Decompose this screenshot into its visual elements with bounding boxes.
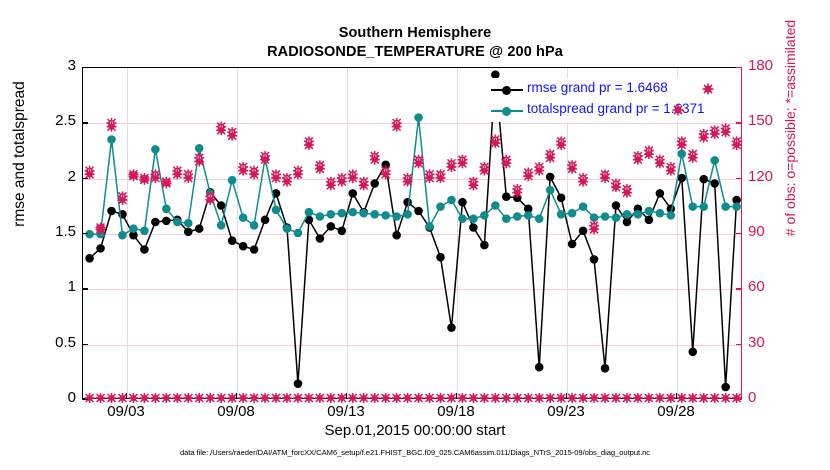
data-point: [228, 237, 236, 245]
obs-assimilated-marker: [85, 393, 95, 403]
y-tick-label-left: 0: [34, 389, 76, 406]
obs-assimilated-marker: [96, 393, 106, 403]
data-point: [228, 176, 236, 184]
obs-assimilated-marker: [523, 393, 533, 403]
data-point: [645, 216, 653, 224]
y-tick-label-left: 2.5: [34, 112, 76, 129]
data-point: [568, 240, 576, 248]
obs-assimilated-marker: [216, 393, 226, 403]
obs-assimilated-marker: [425, 393, 435, 403]
y-tick-right: [736, 67, 742, 68]
data-point: [404, 198, 412, 206]
obs-assimilated-marker: [282, 177, 292, 187]
obs-assimilated-marker: [479, 166, 489, 176]
data-point: [360, 209, 368, 217]
obs-assimilated-marker: [172, 169, 182, 179]
y-tick-right: [736, 233, 742, 234]
y-tick-left: [82, 344, 88, 345]
obs-assimilated-marker: [655, 158, 665, 168]
x-tick: [126, 393, 127, 399]
title-line-1: Southern Hemisphere: [0, 24, 830, 43]
obs-assimilated-marker: [337, 177, 347, 187]
data-point: [239, 242, 247, 250]
obs-assimilated-marker: [666, 166, 676, 176]
data-point: [470, 215, 478, 223]
figure-canvas: Southern Hemisphere RADIOSONDE_TEMPERATU…: [0, 0, 830, 470]
data-point: [645, 207, 653, 215]
data-point: [305, 208, 313, 216]
data-point: [579, 203, 587, 211]
data-point: [557, 194, 565, 202]
obs-assimilated-marker: [249, 393, 259, 403]
data-point: [97, 245, 105, 253]
data-point: [678, 174, 686, 182]
data-point: [349, 208, 357, 216]
obs-assimilated-marker: [721, 393, 731, 403]
title-line-2: RADIOSONDE_TEMPERATURE @ 200 hPa: [0, 43, 830, 62]
data-point: [163, 217, 171, 225]
data-point: [86, 255, 94, 263]
obs-assimilated-marker: [326, 180, 336, 190]
obs-assimilated-marker: [688, 153, 698, 163]
obs-assimilated-marker: [556, 140, 566, 150]
obs-assimilated-marker: [194, 157, 204, 167]
data-point: [524, 212, 532, 220]
obs-assimilated-marker: [403, 393, 413, 403]
data-point: [152, 146, 160, 154]
y-axis-right-title: # of obs: o=possible; *=assimilated: [782, 0, 798, 308]
obs-assimilated-marker: [589, 224, 599, 234]
data-point: [239, 214, 247, 222]
obs-assimilated-marker: [150, 393, 160, 403]
data-point: [250, 222, 258, 230]
y-tick-label-right: 150: [748, 112, 773, 129]
obs-assimilated-marker: [282, 393, 292, 403]
obs-assimilated-marker: [359, 393, 369, 403]
data-point: [535, 215, 543, 223]
y-tick-left: [82, 67, 88, 68]
obs-assimilated-marker: [403, 177, 413, 187]
data-point: [722, 383, 730, 391]
obs-assimilated-marker: [589, 393, 599, 403]
obs-assimilated-marker: [161, 393, 171, 403]
obs-assimilated-marker: [611, 182, 621, 192]
x-tick-label: 09/28: [636, 403, 716, 420]
data-file-footer: data file: /Users/raeder/DAI/ATM_forcXX/…: [0, 448, 830, 457]
obs-assimilated-marker: [479, 393, 489, 403]
data-point: [174, 218, 182, 226]
obs-assimilated-marker: [611, 393, 621, 403]
obs-assimilated-marker: [600, 173, 610, 183]
data-point: [437, 253, 445, 261]
series-obs: [85, 122, 742, 235]
obs-assimilated-marker: [655, 393, 665, 403]
obs-assimilated-marker: [128, 393, 138, 403]
data-point: [195, 225, 203, 233]
data-point: [415, 114, 423, 122]
data-point: [184, 228, 192, 236]
data-point: [722, 203, 730, 211]
data-point: [393, 231, 401, 239]
obs-assimilated-marker: [414, 158, 424, 168]
obs-assimilated-marker: [436, 173, 446, 183]
data-point: [557, 211, 565, 219]
data-point: [634, 211, 642, 219]
obs-assimilated-marker: [107, 393, 117, 403]
data-point: [711, 180, 719, 188]
y-tick-label-right: 120: [748, 168, 773, 185]
legend-dot-rmse: [502, 86, 511, 95]
data-point: [590, 256, 598, 264]
obs-assimilated-marker: [556, 393, 566, 403]
obs-assimilated-marker: [622, 393, 632, 403]
obs-assimilated-marker: [348, 393, 358, 403]
x-tick-label: 09/23: [526, 403, 606, 420]
obs-assimilated-marker: [128, 171, 138, 181]
obs-assimilated-marker: [117, 195, 127, 205]
obs-assimilated-marker: [501, 158, 511, 168]
obs-assimilated-marker: [370, 155, 380, 165]
obs-assimilated-marker: [721, 127, 731, 137]
data-point: [371, 180, 379, 188]
obs-assimilated-marker: [468, 393, 478, 403]
data-point: [108, 136, 116, 144]
obs-assimilated-marker: [512, 188, 522, 198]
data-point: [535, 363, 543, 371]
data-point: [316, 235, 324, 243]
obs-assimilated-marker: [293, 393, 303, 403]
data-point: [503, 193, 511, 201]
obs-assimilated-marker: [150, 173, 160, 183]
legend-label-rmse: rmse grand pr = 1.6468: [527, 80, 668, 95]
obs-assimilated-marker: [249, 169, 259, 179]
y-tick-right: [736, 344, 742, 345]
x-tick-label: 09/18: [416, 403, 496, 420]
obs-assimilated-marker: [139, 393, 149, 403]
y-tick-left: [82, 233, 88, 234]
obs-assimilated-marker: [359, 180, 369, 190]
obs-assimilated-marker: [633, 393, 643, 403]
data-point: [130, 225, 138, 233]
data-point: [294, 229, 302, 237]
obs-assimilated-marker: [205, 393, 215, 403]
data-point: [678, 150, 686, 158]
x-tick: [676, 393, 677, 399]
obs-assimilated-marker: [260, 155, 270, 165]
obs-assimilated-marker: [172, 393, 182, 403]
obs-assimilated-marker: [293, 169, 303, 179]
data-point: [261, 216, 269, 224]
data-point: [711, 157, 719, 165]
y-tick-right: [736, 288, 742, 289]
y-tick-label-left: 1.5: [34, 223, 76, 240]
obs-assimilated-marker: [446, 393, 456, 403]
series-obs: [85, 118, 742, 232]
data-point: [700, 203, 708, 211]
obs-assimilated-marker: [315, 393, 325, 403]
data-point: [546, 186, 554, 194]
obs-assimilated-marker: [534, 393, 544, 403]
x-tick: [346, 393, 347, 399]
obs-assimilated-marker: [490, 393, 500, 403]
x-tick-label: 09/03: [86, 403, 166, 420]
data-point: [108, 207, 116, 215]
y-tick-label-right: 0: [748, 389, 756, 406]
y-tick-left: [82, 288, 88, 289]
data-point: [371, 211, 379, 219]
obs-assimilated-marker: [183, 393, 193, 403]
y-tick-label-right: 60: [748, 278, 765, 295]
data-point: [656, 209, 664, 217]
obs-assimilated-marker: [370, 393, 380, 403]
obs-assimilated-marker: [260, 393, 270, 403]
data-point: [119, 231, 127, 239]
data-point: [283, 225, 291, 233]
data-point: [590, 214, 598, 222]
data-point: [481, 241, 489, 249]
obs-assimilated-marker: [326, 393, 336, 403]
obs-assimilated-marker: [271, 173, 281, 183]
obs-assimilated-marker: [688, 393, 698, 403]
legend-row-totalspread[interactable]: totalspread grand pr = 1.6371: [489, 100, 721, 121]
obs-assimilated-marker: [699, 133, 709, 143]
data-point: [152, 218, 160, 226]
obs-assimilated-marker: [227, 131, 237, 141]
obs-assimilated-marker: [710, 393, 720, 403]
chart-legend[interactable]: rmse grand pr = 1.6468 totalspread grand…: [488, 78, 722, 122]
data-point: [623, 211, 631, 219]
chart-title: Southern Hemisphere RADIOSONDE_TEMPERATU…: [0, 24, 830, 62]
data-point: [141, 246, 149, 254]
data-point: [579, 227, 587, 235]
obs-assimilated-marker: [238, 393, 248, 403]
data-point: [184, 219, 192, 227]
data-point: [382, 212, 390, 220]
data-point: [612, 202, 620, 210]
obs-assimilated-marker: [392, 393, 402, 403]
data-point: [546, 173, 554, 181]
data-point: [733, 203, 741, 211]
obs-assimilated-marker: [304, 393, 314, 403]
obs-assimilated-marker: [633, 155, 643, 165]
y-tick-label-left: 3: [34, 57, 76, 74]
data-point: [195, 145, 203, 153]
obs-assimilated-marker: [381, 169, 391, 179]
data-point: [689, 203, 697, 211]
obs-assimilated-marker: [490, 138, 500, 148]
data-point: [338, 209, 346, 217]
data-point: [437, 203, 445, 211]
obs-assimilated-marker: [216, 125, 226, 135]
obs-assimilated-marker: [677, 393, 687, 403]
y-tick-right: [736, 178, 742, 179]
obs-assimilated-marker: [545, 153, 555, 163]
obs-assimilated-marker: [578, 177, 588, 187]
obs-assimilated-marker: [710, 129, 720, 139]
data-point: [404, 211, 412, 219]
x-axis-title: Sep.01,2015 00:00:00 start: [0, 422, 830, 439]
data-point: [272, 206, 280, 214]
obs-assimilated-marker: [468, 180, 478, 190]
data-point: [481, 212, 489, 220]
y-tick-label-right: 180: [748, 57, 773, 74]
y-tick-left: [82, 178, 88, 179]
obs-assimilated-marker: [699, 393, 709, 403]
x-tick: [456, 393, 457, 399]
x-tick: [236, 393, 237, 399]
y-tick-label-right: 90: [748, 223, 765, 240]
obs-assimilated-marker: [96, 224, 106, 234]
obs-assimilated-marker: [523, 171, 533, 181]
data-point: [700, 175, 708, 183]
data-point: [568, 209, 576, 217]
data-point: [601, 365, 609, 373]
data-point: [141, 227, 149, 235]
obs-assimilated-marker: [425, 173, 435, 183]
obs-assimilated-marker: [392, 122, 402, 132]
obs-assimilated-marker: [271, 393, 281, 403]
data-point: [415, 207, 423, 215]
series-obs: [85, 393, 742, 403]
data-point: [459, 215, 467, 223]
obs-assimilated-marker: [644, 149, 654, 159]
obs-assimilated-marker: [194, 393, 204, 403]
obs-assimilated-marker: [381, 393, 391, 403]
obs-assimilated-marker: [107, 122, 117, 132]
obs-assimilated-marker: [578, 393, 588, 403]
data-point: [393, 213, 401, 221]
data-point: [612, 214, 620, 222]
y-tick-label-left: 1: [34, 278, 76, 295]
obs-assimilated-marker: [545, 393, 555, 403]
legend-dot-totalspread: [502, 107, 511, 116]
obs-assimilated-marker: [183, 173, 193, 183]
data-point: [316, 213, 324, 221]
obs-assimilated-marker: [161, 179, 171, 189]
obs-assimilated-marker: [501, 393, 511, 403]
legend-row-rmse[interactable]: rmse grand pr = 1.6468: [489, 79, 721, 100]
data-point: [327, 211, 335, 219]
obs-assimilated-marker: [414, 393, 424, 403]
x-tick: [566, 393, 567, 399]
y-tick-left: [82, 122, 88, 123]
data-point: [349, 190, 357, 198]
obs-assimilated-marker: [512, 393, 522, 403]
y-tick-label-left: 0.5: [34, 334, 76, 351]
obs-assimilated-marker: [732, 393, 742, 403]
y-tick-right: [736, 399, 742, 400]
obs-assimilated-marker: [622, 188, 632, 198]
data-point: [338, 227, 346, 235]
y-axis-left-title: rmse and totalspread: [11, 0, 29, 334]
y-tick-label-left: 2: [34, 168, 76, 185]
obs-assimilated-marker: [677, 140, 687, 150]
data-point: [294, 380, 302, 388]
data-point: [689, 348, 697, 356]
data-point: [503, 215, 511, 223]
legend-marker-obs-assimilated: [701, 82, 715, 96]
y-tick-label-right: 30: [748, 334, 765, 351]
obs-assimilated-marker: [205, 195, 215, 205]
data-point: [448, 324, 456, 332]
y-tick-right: [736, 122, 742, 123]
obs-assimilated-marker: [457, 393, 467, 403]
obs-assimilated-marker: [534, 166, 544, 176]
obs-assimilated-marker: [567, 164, 577, 174]
legend-marker-obs-possible: [671, 103, 685, 117]
data-point: [448, 196, 456, 204]
obs-assimilated-marker: [644, 393, 654, 403]
data-point: [217, 202, 225, 210]
obs-assimilated-marker: [348, 173, 358, 183]
data-point: [667, 212, 675, 220]
data-point: [163, 205, 171, 213]
data-point: [250, 246, 258, 254]
data-point: [601, 213, 609, 221]
obs-assimilated-marker: [436, 393, 446, 403]
obs-assimilated-marker: [457, 158, 467, 168]
data-point: [217, 222, 225, 230]
data-point: [327, 223, 335, 231]
y-tick-left: [82, 399, 88, 400]
data-point: [470, 224, 478, 232]
obs-assimilated-marker: [315, 164, 325, 174]
obs-assimilated-marker: [139, 175, 149, 185]
data-point: [656, 190, 664, 198]
obs-assimilated-marker: [304, 140, 314, 150]
obs-assimilated-marker: [567, 393, 577, 403]
data-point: [459, 198, 467, 206]
obs-assimilated-marker: [600, 393, 610, 403]
obs-assimilated-marker: [666, 393, 676, 403]
data-point: [426, 223, 434, 231]
data-point: [623, 218, 631, 226]
data-point: [492, 202, 500, 210]
x-tick-label: 09/08: [196, 403, 276, 420]
obs-assimilated-marker: [238, 166, 248, 176]
obs-assimilated-marker: [732, 140, 742, 150]
series-totalspread: [86, 114, 741, 239]
obs-assimilated-marker: [446, 162, 456, 172]
data-point: [513, 213, 521, 221]
x-tick-label: 09/13: [306, 403, 386, 420]
